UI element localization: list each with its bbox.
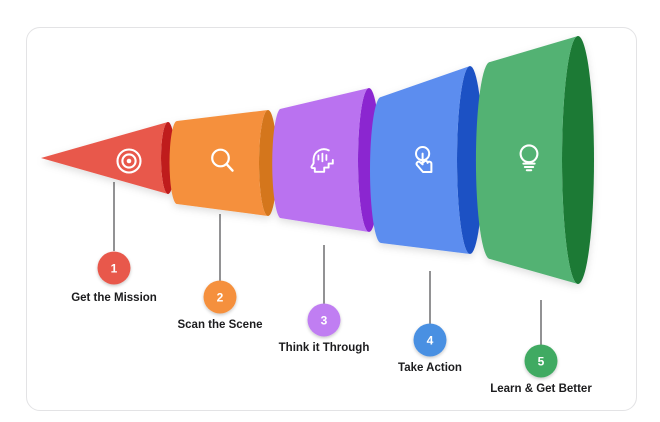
step-badge-3[interactable]: 3: [308, 304, 341, 337]
segment-5-cap: [562, 36, 594, 284]
step-badge-5-number: 5: [538, 355, 545, 369]
funnel-segment-2[interactable]: [170, 110, 277, 216]
step-label-1: Get the Mission: [71, 292, 157, 304]
step-label-5: Learn & Get Better: [490, 383, 592, 395]
step-badge-3-number: 3: [321, 314, 328, 328]
funnel-segment-5[interactable]: [476, 36, 594, 284]
step-label-4: Take Action: [398, 362, 462, 374]
funnel-segment-1[interactable]: [41, 122, 175, 194]
funnel-diagram: 1 2 3 4 5 Get the Mission Scan the Scene: [0, 0, 660, 422]
step-badge-5[interactable]: 5: [525, 345, 558, 378]
step-badges: 1 2 3 4 5: [98, 252, 558, 378]
step-label-3: Think it Through: [279, 342, 370, 354]
step-badge-1[interactable]: 1: [98, 252, 131, 285]
segment-1-body: [41, 122, 168, 194]
step-badge-2[interactable]: 2: [204, 281, 237, 314]
step-badge-2-number: 2: [217, 291, 224, 305]
segment-2-body: [170, 110, 268, 216]
segment-3-body: [272, 88, 369, 232]
step-badge-4[interactable]: 4: [414, 324, 447, 357]
step-badge-1-number: 1: [111, 262, 118, 276]
step-label-2: Scan the Scene: [177, 319, 262, 331]
diagram-canvas: 1 2 3 4 5 Get the Mission Scan the Scene: [0, 0, 660, 422]
funnel-segment-3[interactable]: [272, 88, 380, 232]
step-badge-4-number: 4: [427, 334, 434, 348]
funnel-segment-4[interactable]: [370, 66, 483, 254]
